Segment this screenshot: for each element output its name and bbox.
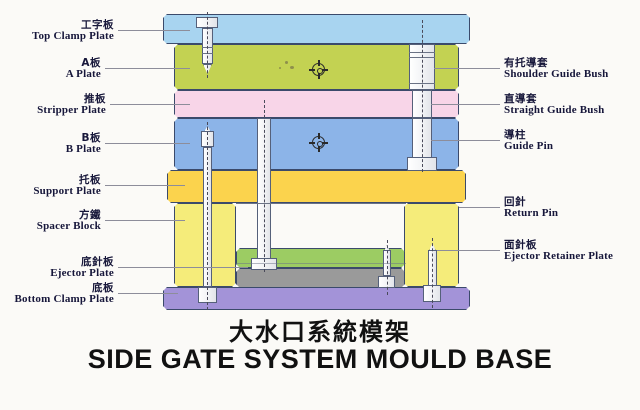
texture-speck: [279, 67, 281, 69]
label-a-plate: A板 A Plate: [0, 58, 101, 80]
label-en: B Plate: [0, 144, 101, 155]
leader-line-shoulder-guide-bush: [434, 68, 500, 69]
label-bottom-clamp-plate: 底板 Bottom Clamp Plate: [0, 283, 114, 305]
guide-pin-centerline: [422, 20, 423, 172]
label-en: A Plate: [0, 69, 101, 80]
texture-speck: [285, 61, 288, 64]
cap-screw-centerline: [207, 12, 208, 78]
title-chinese: 大水口系統模架: [0, 312, 640, 347]
label-en: Straight Guide Bush: [504, 105, 640, 116]
texture-speck: [290, 66, 294, 69]
eyebolt-target-icon: [311, 62, 326, 77]
label-en: Top Clamp Plate: [0, 31, 114, 42]
label-en: Guide Pin: [504, 141, 640, 152]
label-en: Ejector Plate: [0, 268, 114, 279]
title-english: SIDE GATE SYSTEM MOULD BASE: [0, 344, 640, 375]
leader-line-guide-pin: [431, 140, 500, 141]
leader-line-return-pin: [459, 207, 500, 208]
diagram-page: 工字板 Top Clamp Plate A板 A Plate 推板 Stripp…: [0, 0, 640, 410]
label-ejector-retainer-plate: 面針板 Ejector Retainer Plate: [504, 240, 640, 262]
leader-line-spacer-block: [105, 220, 185, 221]
leader-line-support-plate: [105, 185, 185, 186]
label-support-plate: 托板 Support Plate: [0, 175, 101, 197]
label-b-plate: B板 B Plate: [0, 133, 101, 155]
spacer-screw-centerline: [432, 238, 433, 308]
label-en: Stripper Plate: [0, 105, 106, 116]
label-return-pin: 回針 Return Pin: [504, 197, 640, 219]
leader-line-b-plate: [105, 143, 190, 144]
center-ejector-centerline: [264, 100, 265, 272]
label-spacer-block: 方鐵 Spacer Block: [0, 210, 101, 232]
leader-line-stripper-plate: [110, 104, 190, 105]
leader-line-straight-guide-bush: [431, 104, 500, 105]
label-top-clamp-plate: 工字板 Top Clamp Plate: [0, 20, 114, 42]
leader-line-a-plate: [105, 68, 190, 69]
return-pin-centerline: [207, 122, 208, 310]
label-stripper-plate: 推板 Stripper Plate: [0, 94, 106, 116]
label-en: Ejector Retainer Plate: [504, 251, 640, 262]
leader-line-bottom-clamp-plate: [118, 293, 178, 294]
label-straight-guide-bush: 直導套 Straight Guide Bush: [504, 94, 640, 116]
label-shoulder-guide-bush: 有托導套 Shoulder Guide Bush: [504, 58, 640, 80]
label-guide-pin: 導柱 Guide Pin: [504, 130, 640, 152]
ejector-screw-centerline: [387, 240, 388, 295]
section-reference-line: [236, 203, 406, 204]
leader-line-ejector-plate: [118, 267, 248, 268]
label-en: Spacer Block: [0, 221, 101, 232]
section-reference-line: [236, 263, 406, 264]
label-en: Support Plate: [0, 186, 101, 197]
label-en: Shoulder Guide Bush: [504, 69, 640, 80]
leader-line-top-clamp-plate: [118, 30, 190, 31]
label-en: Return Pin: [504, 208, 640, 219]
leader-line-ejector-retainer-plate: [437, 250, 500, 251]
eyebolt-target-icon: [311, 135, 326, 150]
label-en: Bottom Clamp Plate: [0, 294, 114, 305]
label-ejector-plate: 底針板 Ejector Plate: [0, 257, 114, 279]
